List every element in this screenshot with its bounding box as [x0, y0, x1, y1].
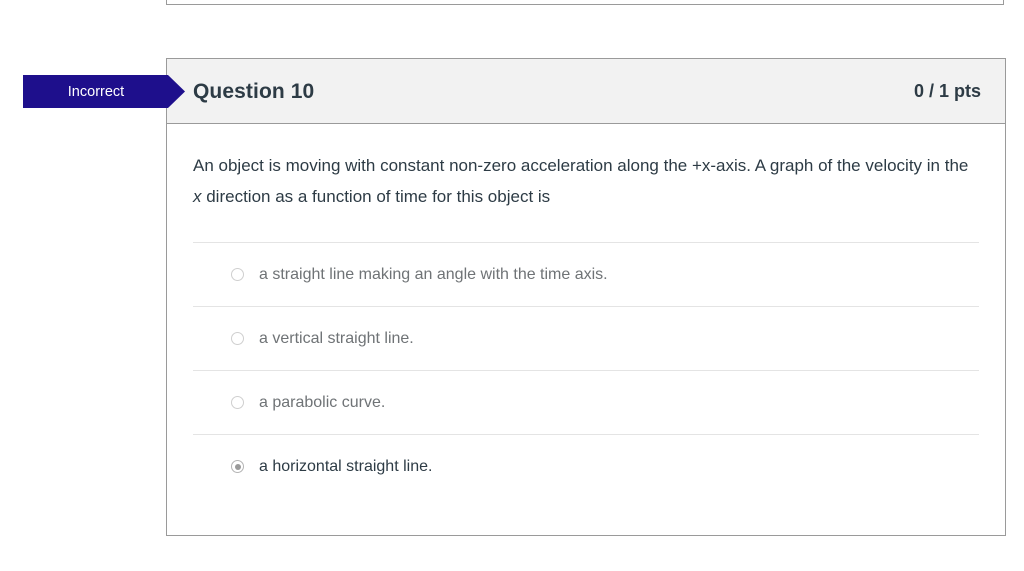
quiz-results-page: Incorrect Question 10 0 / 1 pts An objec… [0, 0, 1024, 571]
question-points: 0 / 1 pts [914, 82, 981, 100]
question-prompt: An object is moving with constant non-ze… [167, 124, 1005, 212]
answer-option-label: a horizontal straight line. [259, 457, 432, 476]
question-body: An object is moving with constant non-ze… [167, 124, 1005, 498]
status-badge-label: Incorrect [68, 84, 124, 100]
question-prompt-part2: direction as a function of time for this… [202, 187, 551, 206]
question-header: Incorrect Question 10 0 / 1 pts [167, 59, 1005, 124]
answer-option-2[interactable]: a vertical straight line. [193, 306, 979, 370]
previous-question-card-partial [166, 0, 1004, 5]
answer-option-3[interactable]: a parabolic curve. [193, 370, 979, 434]
radio-button-icon[interactable] [231, 332, 244, 345]
answer-options-list: a straight line making an angle with the… [193, 242, 979, 498]
question-title: Question 10 [193, 81, 314, 102]
answer-option-label: a parabolic curve. [259, 393, 385, 412]
question-prompt-part1: An object is moving with constant non-ze… [193, 156, 968, 175]
question-card: Incorrect Question 10 0 / 1 pts An objec… [166, 58, 1006, 536]
question-prompt-italic-x: x [193, 187, 202, 206]
answer-option-1[interactable]: a straight line making an angle with the… [193, 242, 979, 306]
answer-option-label: a vertical straight line. [259, 329, 414, 348]
radio-button-icon[interactable] [231, 268, 244, 281]
radio-button-icon[interactable] [231, 396, 244, 409]
answer-option-label: a straight line making an angle with the… [259, 265, 608, 284]
status-badge-incorrect: Incorrect [23, 75, 185, 108]
radio-button-selected-icon[interactable] [231, 460, 244, 473]
answer-option-4[interactable]: a horizontal straight line. [193, 434, 979, 498]
